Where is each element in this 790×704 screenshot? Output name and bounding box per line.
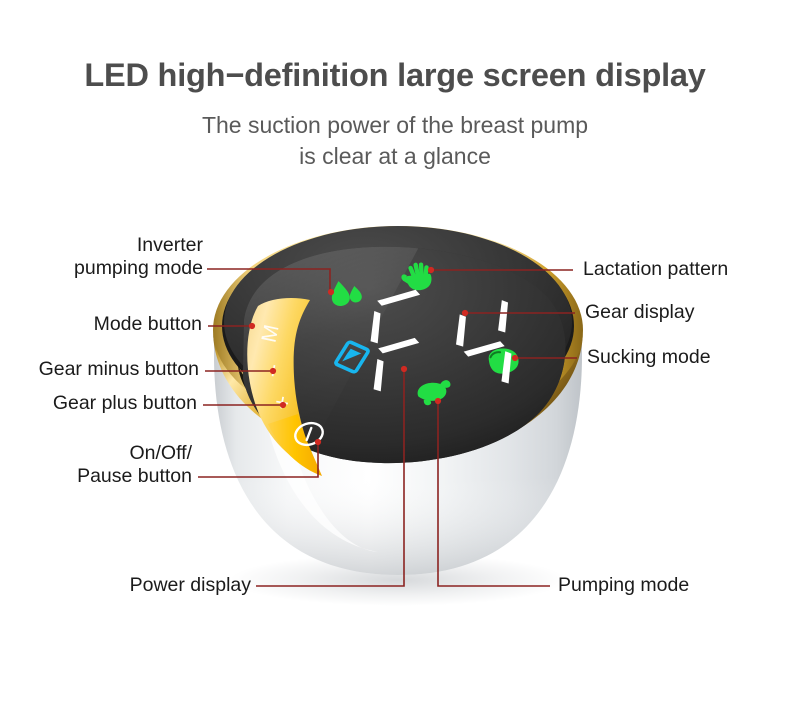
callout-gear-minus-button: Gear minus button bbox=[0, 358, 199, 381]
callout-line: On/Off/ bbox=[0, 442, 192, 465]
anchor-dot bbox=[280, 402, 286, 408]
callout-sucking-mode: Sucking mode bbox=[587, 346, 711, 369]
callout-gear-display: Gear display bbox=[585, 301, 694, 324]
anchor-dot bbox=[512, 355, 518, 361]
callout-line: pumping mode bbox=[0, 257, 203, 280]
callout-pumping-mode: Pumping mode bbox=[558, 574, 689, 597]
callout-line: Mode button bbox=[0, 313, 202, 336]
callout-inverter-pumping-mode: Inverter pumping mode bbox=[0, 234, 203, 279]
anchor-dot bbox=[428, 267, 434, 273]
callout-power-display: Power display bbox=[0, 574, 251, 597]
callout-line: Lactation pattern bbox=[583, 258, 728, 281]
anchor-dot bbox=[435, 398, 441, 404]
callout-on-off-pause-button: On/Off/ Pause button bbox=[0, 442, 192, 487]
callout-line: Sucking mode bbox=[587, 346, 711, 369]
anchor-dot bbox=[249, 323, 255, 329]
callout-line: Pause button bbox=[0, 465, 192, 488]
anchor-dot bbox=[270, 368, 276, 374]
callout-line: Gear plus button bbox=[0, 392, 197, 415]
anchor-dot bbox=[328, 289, 334, 295]
callout-gear-plus-button: Gear plus button bbox=[0, 392, 197, 415]
callout-lactation-pattern: Lactation pattern bbox=[583, 258, 728, 281]
product-callout-diagram: M − + bbox=[0, 0, 790, 704]
breast-pump-device: M − + bbox=[213, 226, 583, 575]
anchor-dot bbox=[462, 310, 468, 316]
callout-line: Gear minus button bbox=[0, 358, 199, 381]
callout-mode-button: Mode button bbox=[0, 313, 202, 336]
callout-line: Pumping mode bbox=[558, 574, 689, 597]
anchor-dot bbox=[315, 439, 321, 445]
callout-line: Inverter bbox=[0, 234, 203, 257]
callout-line: Power display bbox=[0, 574, 251, 597]
anchor-dot bbox=[401, 366, 407, 372]
callout-line: Gear display bbox=[585, 301, 694, 324]
